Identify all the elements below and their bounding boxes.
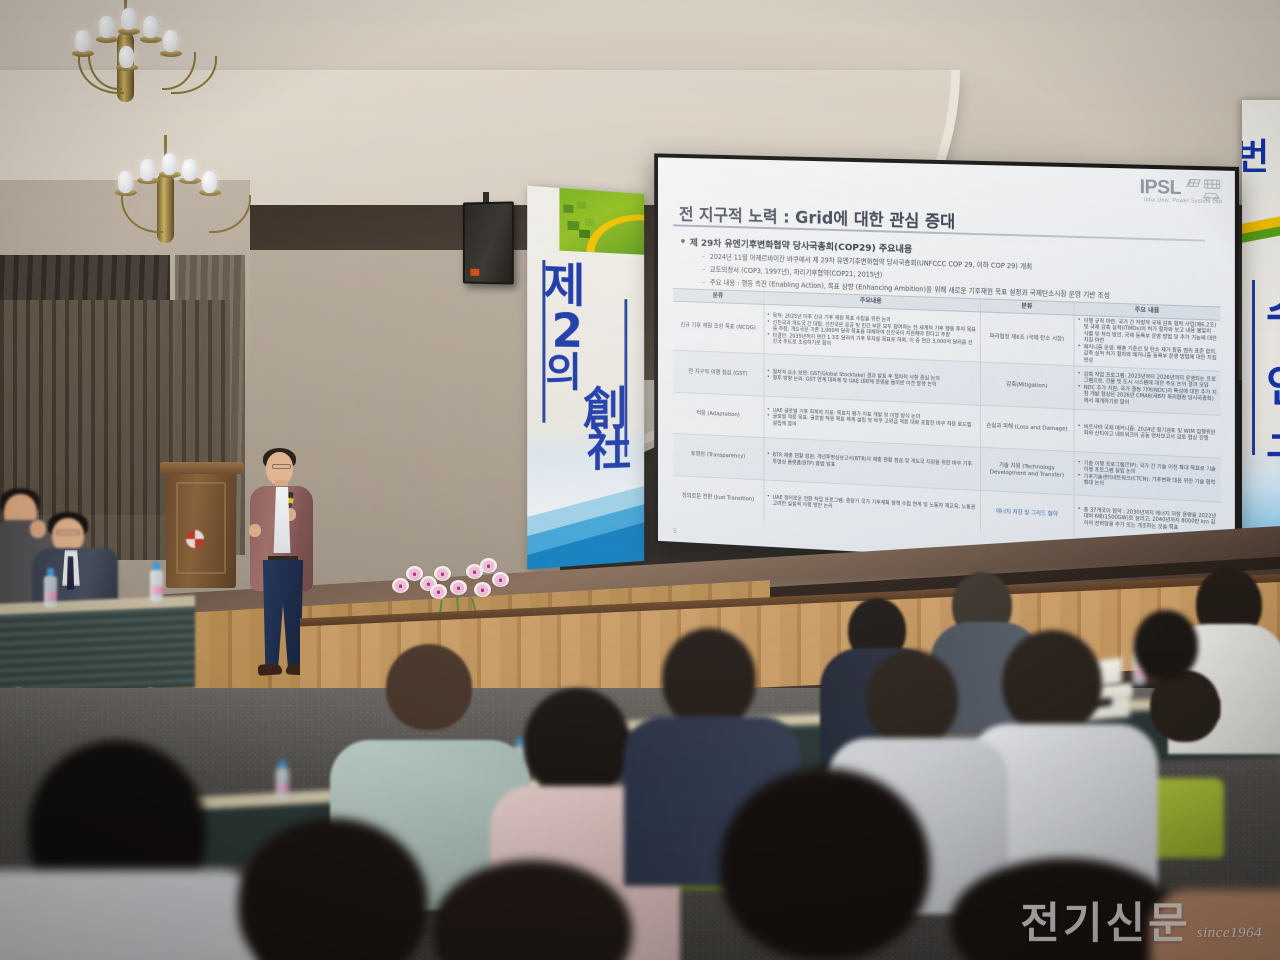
orchid-flower <box>450 580 467 595</box>
screen-surface: IPSL Inha Univ. Power System Lab 전 <box>658 157 1235 571</box>
orchid-flower <box>474 582 491 597</box>
banner-right-char-3: 인 <box>1266 350 1280 414</box>
cell-category-2: 손실과 피해 (Loss and Damage) <box>979 405 1073 451</box>
orchid-flower <box>434 566 451 581</box>
cell-category: 적응 (Adaptation) <box>673 393 763 438</box>
panelist-2-glasses <box>56 530 80 535</box>
cell-content: 목적: 2025년 이후 신규 기후 재원 목표 수립을 위한 논의 선진국과 … <box>763 305 979 362</box>
banner-right-char-4: 구 <box>1266 418 1280 482</box>
chandelier-lower <box>105 135 225 265</box>
presentation-slide: IPSL Inha Univ. Power System Lab 전 <box>658 157 1235 571</box>
chandelier-upper <box>60 0 190 134</box>
cell-bullet: UAE 정의로운 전환 작업 프로그램: 중장기 국가 기후계획 정책 수립 연… <box>767 494 976 517</box>
ipsl-logo-subtitle: Inha Univ. Power System Lab <box>1144 197 1222 205</box>
slide-table: 분류 주요내용 분류 주요 내용 신규 기후 재원 조성 목표 (NCQG) 목… <box>673 288 1220 545</box>
photo-scene: 제 2 의 創 社 번 수 인 구 IPSL <box>0 0 1280 960</box>
water-bottle <box>44 568 57 608</box>
presenter-glasses <box>272 464 291 469</box>
banner-wave-footer <box>527 485 644 570</box>
orchid-flower <box>492 572 509 587</box>
cell-category: 신규 기후 재원 조성 목표 (NCQG) <box>673 302 763 354</box>
cell-content-2: 감축 작업 프로그램: 2023년부터 2026년까지 운영되는 프로그램으로,… <box>1074 366 1221 414</box>
water-bottle <box>150 562 163 602</box>
head-table-panel <box>0 606 195 695</box>
cell-category: 전 지구적 이행 점검 (GST) <box>673 351 763 395</box>
orchid-flower <box>392 578 409 593</box>
cell-category: 투명성 (Transparency) <box>673 434 763 479</box>
slide-page-number: 5 <box>673 528 676 535</box>
decorative-ball <box>186 530 204 548</box>
cell-category: 정의로운 전환 (Just Transition) <box>673 476 763 521</box>
cell-bullet: 바르샤바 국제 메커니즘: 2024년 정기검토 및 WIM 집행위원회와 산티… <box>1078 424 1218 443</box>
projection-screen: IPSL Inha Univ. Power System Lab 전 <box>654 153 1239 576</box>
banner-right-char-2: 수 <box>1266 278 1280 342</box>
banner-right-rule <box>1252 280 1255 455</box>
wall-speaker-jbl <box>463 201 514 284</box>
panelist-1-hand <box>30 520 46 538</box>
ipsl-logo: IPSL Inha Univ. Power System Lab <box>1140 177 1223 201</box>
podium-inlay <box>176 482 226 574</box>
cell-bullet: NDC 추가 지침: 국가 결정 기여(NDC)의 특성에 대한 추가 지침 개… <box>1078 384 1218 410</box>
cell-bullet: BTR 제출 현황 점검: 격년투명성보고서(BTR)의 제출 현황 점검 및 … <box>767 452 976 475</box>
cell-category-2: 감축(Mitigation) <box>979 363 1073 409</box>
cell-content-2: 기술 이행 프로그램(TIP): 국가 간 기술 이전 확대 목표로 기술 이행… <box>1074 452 1221 501</box>
cell-category-2: 기술 지원 (Technology Development and Transf… <box>979 448 1073 494</box>
cell-content-2: 이행 규칙 마련: 국가 간 자발적 국제 감축 협력 사업(제6.2조) 및 … <box>1074 315 1221 371</box>
presenter-shoe-left <box>258 663 283 676</box>
cell-category-2: 파리협정 제6조 (국제 탄소 시장) <box>979 312 1073 365</box>
cell-content-2: 바르샤바 국제 메커니즘: 2024년 정기검토 및 WIM 집행위원회와 산티… <box>1074 409 1221 457</box>
water-bottle <box>276 760 289 800</box>
cell-bullet: 메커니즘 운영: 배출 기준선 및 탄소 제거 활동 범위 표준 합의, 감축 … <box>1078 344 1218 369</box>
banner-char-2: 2 <box>551 308 634 354</box>
banner-left: 제 2 의 創 社 <box>527 186 644 570</box>
orchid-flower <box>480 558 497 573</box>
orchid-flower <box>430 584 447 599</box>
cell-bullet: 총 37개국이 협약 : 2030년까지 에너지 저장 용량을 2022년 대비… <box>1078 506 1218 533</box>
podium-top <box>160 462 244 474</box>
banner-right-char-1: 번 <box>1242 128 1269 180</box>
presenter-hand-left <box>249 524 261 537</box>
banner-left-text: 제 2 의 創 社 <box>541 262 634 475</box>
cell-category-2: 에너지 저장 및 그리드 협약 <box>979 490 1073 536</box>
banner-char-5: 社 <box>587 427 635 473</box>
banner-logo-graphic <box>559 188 644 255</box>
